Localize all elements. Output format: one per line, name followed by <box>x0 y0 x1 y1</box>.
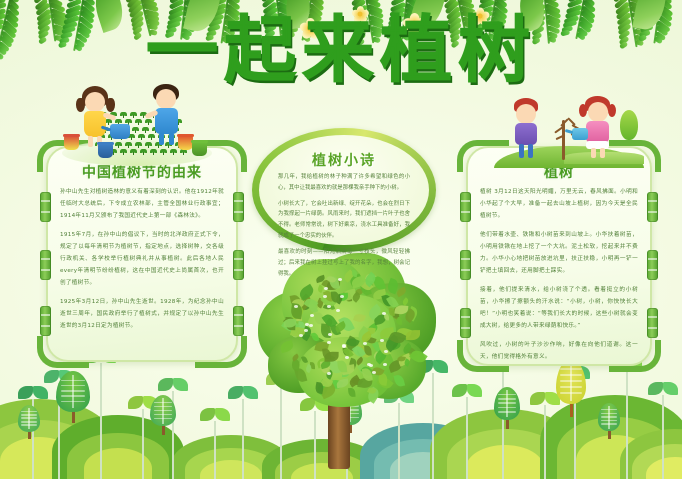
panel-origin-of-arbor-day: 中国植树节的由来 孙中山先生对植树造林的意义有着深刻的认识。他在1912年就任临… <box>46 146 238 362</box>
stem <box>138 145 139 148</box>
canopy-highlight <box>382 312 386 315</box>
seedling-icon <box>138 134 145 140</box>
seedling-icon <box>160 149 167 155</box>
pigtail-left <box>76 98 85 112</box>
bamboo-segment-icon <box>40 306 51 336</box>
watering-can-icon <box>110 124 130 139</box>
stem <box>123 152 124 155</box>
stem <box>141 137 142 140</box>
canopy-highlight <box>372 371 376 374</box>
tree-leaves <box>648 379 678 397</box>
bucket-icon <box>98 144 113 158</box>
seedling-icon <box>132 127 139 133</box>
head <box>156 89 176 109</box>
stem <box>118 145 119 148</box>
leg <box>591 148 596 158</box>
leaf <box>663 382 678 395</box>
head <box>85 92 105 112</box>
leg <box>159 133 164 145</box>
canopy-highlight <box>384 350 388 353</box>
leaf <box>128 396 143 409</box>
panel-tree-planting-story: 植树 植树 3月12日这天阳光明媚，万里无云，春风拂面。小明和小华起了个大早，准… <box>466 146 652 366</box>
stem <box>143 115 144 118</box>
pigtail-left <box>579 104 587 117</box>
seedling-icon <box>140 149 147 155</box>
bamboo-segment-icon <box>647 192 658 222</box>
arbor-day-poster: 一起来植树 中国植树节的由来 孙中山先生对植树造林的意义有着深刻的认识。他在19… <box>0 0 682 479</box>
stalk-tree-icon <box>452 381 482 479</box>
paragraph: 最喜欢的时刻——阳光洒满每一寸枝头，微风轻轻拂过；后来我在树上挂过写上了我的名字… <box>278 247 410 279</box>
stem <box>123 115 124 118</box>
canopy-leaf <box>406 330 420 340</box>
paragraph: 1915年7月，在孙中山的倡议下，当时的北洋政府正式下令，规定了以每年清明节为植… <box>60 229 224 289</box>
paragraph: 植树 3月12日这天阳光明媚，万里无云，春风拂面。小明和小华起了个大早，准备一起… <box>480 186 638 222</box>
leg <box>600 148 605 158</box>
canopy-highlight <box>309 324 313 327</box>
seedling-icon <box>120 112 127 118</box>
stem <box>128 145 129 148</box>
paragraph: 那几年，我给植树的林子种满了许多希望和绿色的小心，其中让我最喜欢的就是那棵我亲手… <box>278 172 410 194</box>
stem <box>153 152 154 155</box>
stem <box>145 130 146 133</box>
crown-midrib <box>72 375 74 408</box>
stalk-tree-icon <box>86 347 116 479</box>
tree-leaves <box>158 375 188 393</box>
bucket-rim <box>191 140 208 143</box>
bamboo-segment-icon <box>460 308 471 338</box>
leaf <box>452 384 467 397</box>
paragraph: 风吹过，小树的叶子沙沙作响，好像在向他们道谢。这一天，他们觉得格外有意义。 <box>480 339 638 363</box>
paragraph: 小树长大了，它会吐出新绿、绽开花朵，也会在烈日下为我撑起一片绿荫。风雨来时，我们… <box>278 199 410 242</box>
cone-tree-icon <box>598 403 620 439</box>
leaf <box>18 386 33 399</box>
stem <box>135 130 136 133</box>
bucket-rim <box>177 134 194 137</box>
canopy-highlight <box>380 339 384 342</box>
tree-leaves <box>452 381 482 399</box>
tree-crown <box>494 387 520 420</box>
tree-crown <box>150 395 176 426</box>
child-girl <box>76 86 116 148</box>
skirt <box>586 141 609 149</box>
bamboo-segment-icon <box>460 250 471 280</box>
child-boy <box>510 98 546 160</box>
kids-sapling-icon <box>494 88 644 168</box>
leaf <box>530 392 545 405</box>
stem <box>113 152 114 155</box>
stalk-tree-icon <box>648 379 678 479</box>
tree-stem <box>100 363 102 479</box>
bucket-rim <box>63 134 80 137</box>
stem <box>138 122 139 125</box>
crown-midrib <box>28 408 30 430</box>
cone-tree-icon <box>150 395 176 435</box>
tree-stem <box>242 399 244 479</box>
head <box>516 104 536 124</box>
bamboo-segment-icon <box>647 250 658 280</box>
tree-stem <box>466 397 468 479</box>
stem <box>143 152 144 155</box>
watering-can-icon <box>572 128 588 140</box>
panel-body-center: 那几年，我给植树的林子种满了许多希望和绿色的小心，其中让我最喜欢的就是那棵我亲手… <box>278 172 410 284</box>
stem <box>163 152 164 155</box>
pigtail-right <box>608 104 616 117</box>
leg <box>169 133 174 145</box>
crown-midrib <box>608 406 610 429</box>
bamboo-segment-icon <box>40 192 51 222</box>
leg <box>528 144 533 158</box>
stem <box>133 152 134 155</box>
bamboo-segment-icon <box>233 192 244 222</box>
dress <box>586 121 609 143</box>
shirt <box>515 123 537 145</box>
tree-stem <box>662 395 664 479</box>
stem <box>133 115 134 118</box>
leaf <box>158 378 173 391</box>
poster-headline: 一起来植树 <box>0 14 682 86</box>
stem <box>131 137 132 140</box>
seedling-icon <box>135 119 142 125</box>
tree-crown <box>598 403 620 431</box>
stem <box>173 152 174 155</box>
crown-midrib <box>162 398 164 424</box>
seedling-icon <box>125 142 132 148</box>
tree-stem <box>214 421 216 479</box>
bamboo-segment-icon <box>233 306 244 336</box>
leaf <box>173 378 188 391</box>
cone-tree-icon <box>494 387 520 429</box>
leaf <box>228 386 243 399</box>
bucket-icon <box>192 142 207 156</box>
bamboo-segment-icon <box>460 192 471 222</box>
leaf <box>648 382 663 395</box>
tree-crown <box>56 371 90 412</box>
paragraph: 他们带着水壶、铁锹和小树苗来到山坡上。小华扶着树苗，小明用铁锹在地上挖了一个大坑… <box>480 229 638 277</box>
leg <box>88 136 93 147</box>
bamboo-segment-icon <box>647 308 658 338</box>
canopy-highlight <box>327 341 331 344</box>
panel-body-left: 孙中山先生对植树造林的意义有着深刻的认识。他在1912年就任临时大总统后，下令成… <box>60 186 224 339</box>
panel-tree-poem: 植树小诗 那几年，我给植树的林子种满了许多希望和绿色的小心，其中让我最喜欢的就是… <box>252 128 436 252</box>
panel-body-right: 植树 3月12日这天阳光明媚，万里无云，春风拂面。小明和小华起了个大早，准备一起… <box>480 186 638 370</box>
seedling-icon <box>170 149 177 155</box>
canopy-highlight <box>327 305 331 308</box>
panel-corner-br <box>195 336 247 368</box>
tree-crown <box>18 405 40 432</box>
bamboo-segment-icon <box>233 250 244 280</box>
seedling-icon <box>130 112 137 118</box>
canopy-leaf <box>398 355 406 361</box>
tree-stem <box>626 367 628 479</box>
seedling-icon <box>150 149 157 155</box>
panel-title-center: 植树小诗 <box>252 150 436 170</box>
panel-corner-bl <box>37 336 89 368</box>
canopy-highlight <box>323 295 327 298</box>
bucket-icon <box>178 136 193 150</box>
pigtail-right <box>106 98 115 112</box>
bucket-icon <box>64 136 79 150</box>
stalk-tree-icon <box>200 405 230 479</box>
seedling-icon <box>135 142 142 148</box>
bucket-rim <box>97 142 114 145</box>
stem <box>183 152 184 155</box>
bamboo-segment-icon <box>40 250 51 280</box>
shirt <box>155 108 178 134</box>
kids-watering-icon <box>62 82 212 164</box>
paragraph: 1925年3月12日，孙中山先生逝世。1928年，为纪念孙中山逝世三周年，国民政… <box>60 296 224 332</box>
cone-tree-icon <box>56 371 90 423</box>
head <box>588 102 608 122</box>
tree-stem <box>142 409 144 479</box>
shrub-icon <box>620 110 638 140</box>
canopy-highlight <box>304 329 308 332</box>
seedling-icon <box>130 149 137 155</box>
leg <box>519 144 524 158</box>
tree-leaves <box>200 405 230 423</box>
canopy-highlight <box>363 342 367 345</box>
seedling-icon <box>120 149 127 155</box>
crown-midrib <box>506 390 508 417</box>
leaf <box>200 408 215 421</box>
tree-stem <box>544 405 546 479</box>
canopy-highlight <box>345 356 349 359</box>
leaf <box>467 384 482 397</box>
canopy-highlight <box>294 305 298 308</box>
paragraph: 孙中山先生对植树造林的意义有着深刻的认识。他在1912年就任临时大总统后，下令成… <box>60 186 224 222</box>
cone-tree-icon <box>18 405 40 439</box>
canopy-highlight <box>340 295 344 298</box>
paragraph: 接着，他们提来清水，给小树浇了个透。看着挺立的小树苗，小华擦了擦额头的汗水说：“… <box>480 284 638 332</box>
